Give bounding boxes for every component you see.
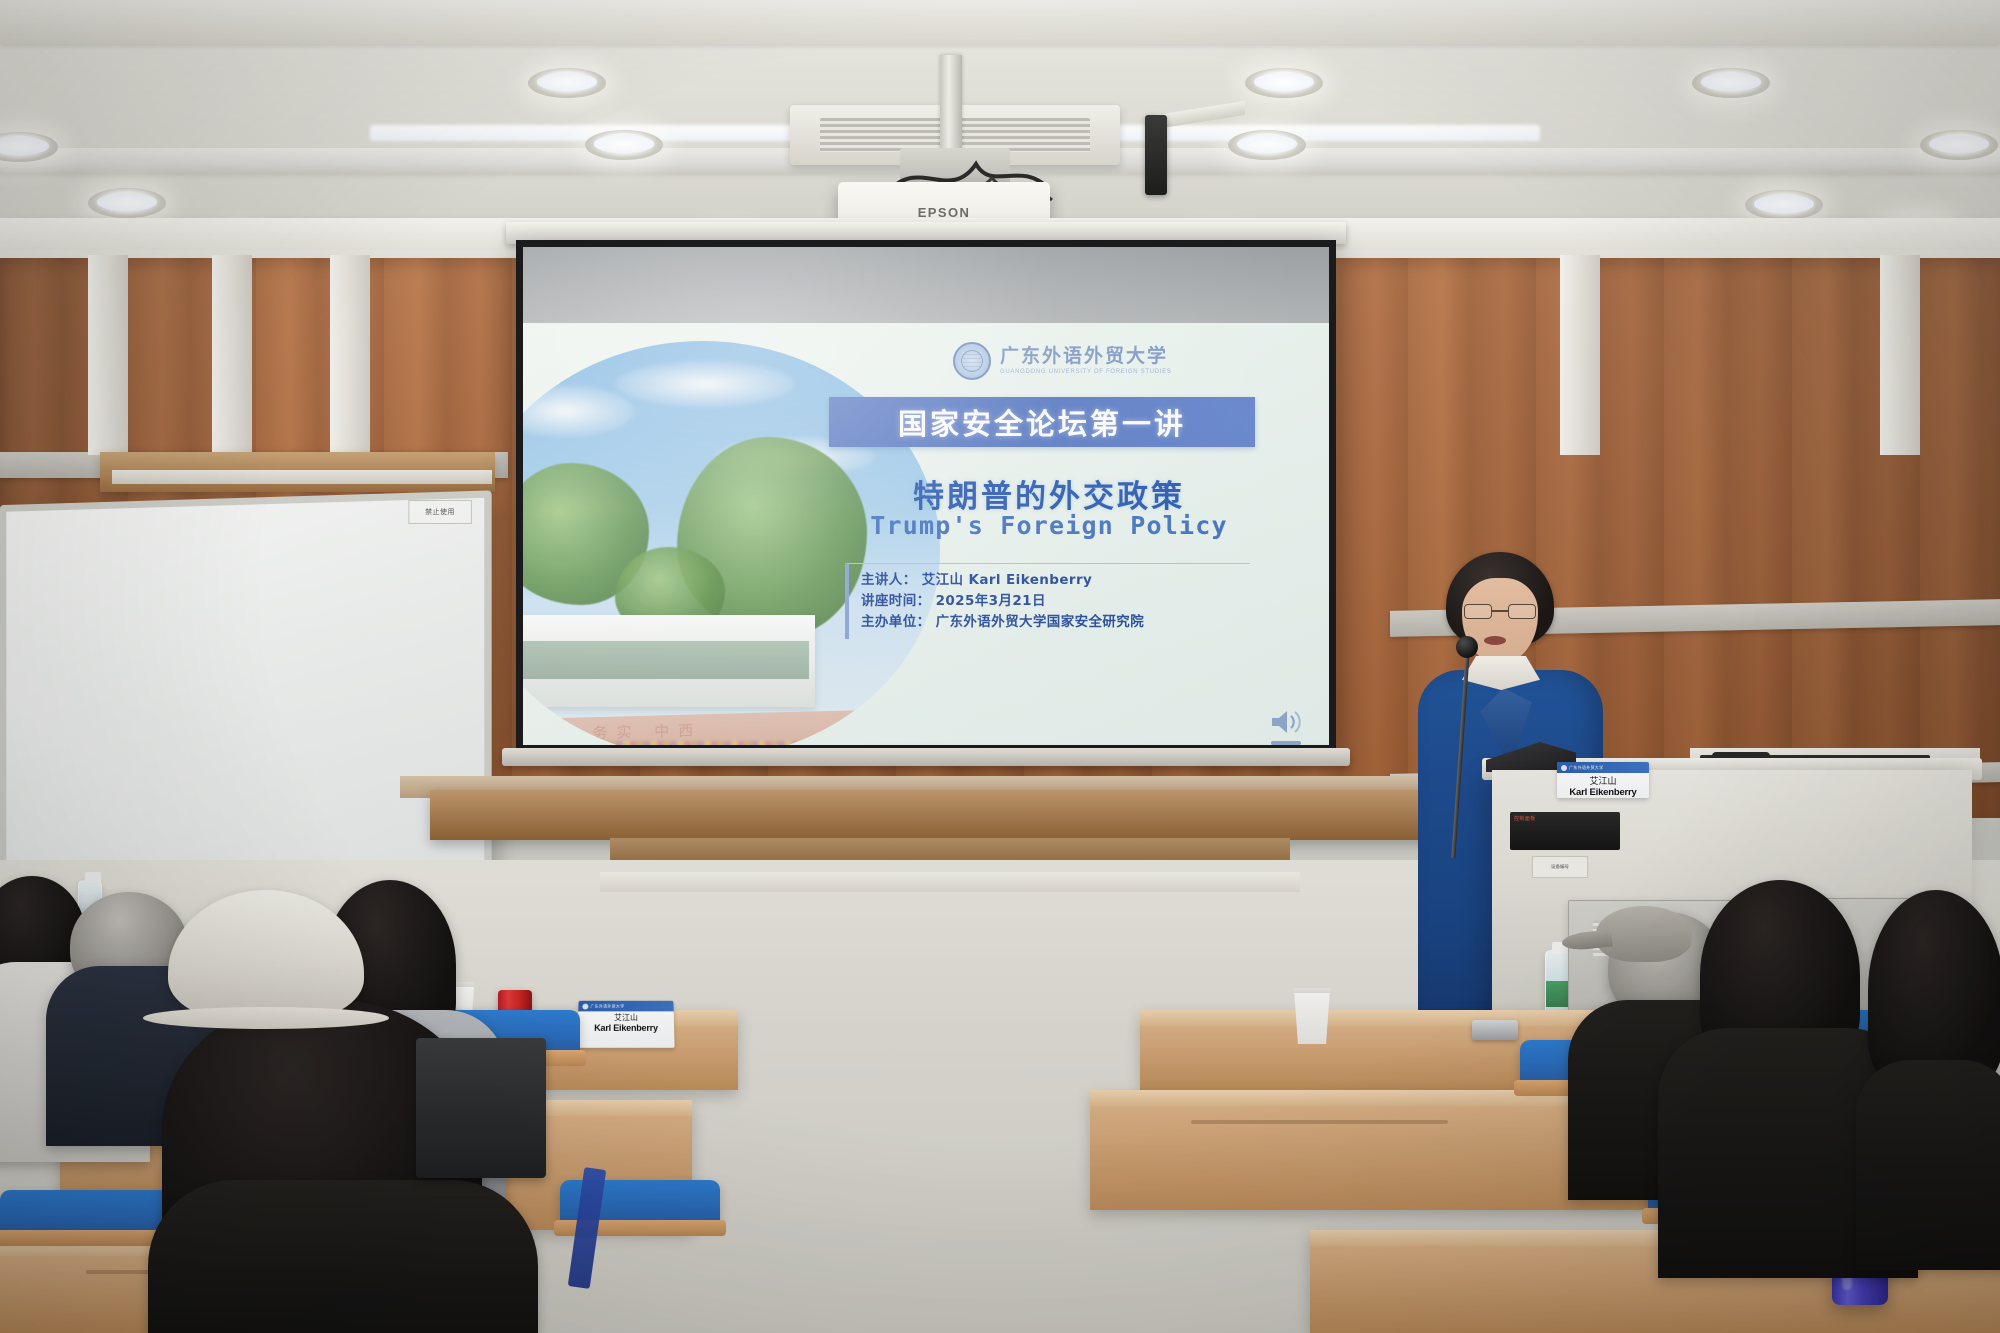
wall-pillar xyxy=(212,255,252,455)
slide-info-date: 讲座时间： 2025年3月21日 xyxy=(861,591,1248,612)
ceiling-speaker xyxy=(1145,115,1167,195)
lens-bridge xyxy=(1492,610,1508,612)
podium-control-panel[interactable]: 控制面板 xyxy=(1510,812,1620,850)
screen-frame: 博学 尚德 务实 中西 广东外语外贸大学 GUANGDONG UNIVERSIT… xyxy=(516,240,1336,752)
nameplate-org: 广东外语外贸大学 xyxy=(1569,765,1603,771)
wall-pillar xyxy=(330,255,370,455)
ceiling-downlight xyxy=(528,68,606,98)
screen-blank-margin xyxy=(523,247,1329,323)
presentation-slide: 博学 尚德 务实 中西 广东外语外贸大学 GUANGDONG UNIVERSIT… xyxy=(523,323,1329,745)
podium-panel-label: 控制面板 xyxy=(1510,812,1620,825)
baseball-cap xyxy=(1596,906,1692,962)
ceiling-downlight xyxy=(1692,68,1770,98)
lecture-hall-photo: EPSON 禁止使用 xyxy=(0,0,2000,1333)
stage-front-panel xyxy=(430,790,1430,840)
screen-bottom-weight-bar xyxy=(502,748,1350,766)
nameplate-desk: 广东外语外贸大学 艾江山 Karl Eikenberry xyxy=(577,1001,674,1048)
nameplate-name-cn: 艾江山 xyxy=(578,1012,674,1023)
audience-body xyxy=(148,1180,538,1333)
desk-top xyxy=(1140,1010,1640,1026)
nameplate-name-en: Karl Eikenberry xyxy=(1557,787,1649,798)
ceiling-downlight xyxy=(88,188,166,218)
screen-surface: 博学 尚德 务实 中西 广东外语外贸大学 GUANGDONG UNIVERSIT… xyxy=(523,247,1329,745)
microphone-icon xyxy=(1456,636,1478,658)
nameplate-name-en: Karl Eikenberry xyxy=(578,1023,674,1033)
university-logo: 广东外语外贸大学 GUANGDONG UNIVERSITY OF FOREIGN… xyxy=(953,339,1203,383)
slide-banner: 国家安全论坛第一讲 xyxy=(829,397,1255,447)
cloud xyxy=(615,361,795,407)
wall-pillar xyxy=(1880,255,1920,455)
nameplate-header: 广东外语外贸大学 xyxy=(578,1001,673,1012)
slide-info-block: 主讲人： 艾江山 Karl Eikenberry 讲座时间： 2025年3月21… xyxy=(845,563,1250,639)
presenter-mouth xyxy=(1484,636,1506,645)
bottle-cap xyxy=(85,872,101,883)
desk-slot xyxy=(1191,1120,1449,1124)
nameplate-logo-icon xyxy=(1561,765,1567,771)
wall-pillar xyxy=(88,255,128,455)
slide-progress-bar xyxy=(1271,741,1301,745)
ceiling-downlight xyxy=(1920,130,1998,160)
whiteboard-warning-sign: 禁止使用 xyxy=(408,500,472,524)
campus-building xyxy=(523,615,815,707)
nameplate-logo-icon xyxy=(582,1003,588,1009)
nameplate-header: 广东外语外贸大学 xyxy=(1557,762,1649,773)
ceiling-beam xyxy=(0,0,2000,44)
audience-body xyxy=(1856,1060,2000,1270)
speaker-icon xyxy=(1269,707,1303,737)
nameplate-podium: 广东外语外贸大学 艾江山 Karl Eikenberry xyxy=(1557,762,1649,798)
projection-screen: 博学 尚德 务实 中西 广东外语外贸大学 GUANGDONG UNIVERSIT… xyxy=(516,240,1336,785)
ceiling-downlight xyxy=(1745,190,1823,220)
floor-step xyxy=(600,872,1300,892)
wall-pillar xyxy=(1560,255,1600,455)
slide-info-speaker: 主讲人： 艾江山 Karl Eikenberry xyxy=(861,570,1248,591)
projector-mount-pole xyxy=(940,55,962,155)
university-seal-icon xyxy=(953,342,991,380)
slide-banner-text: 国家安全论坛第一讲 xyxy=(898,401,1186,443)
smartphone xyxy=(1472,1020,1518,1040)
wall-cabinet-top xyxy=(112,470,492,484)
slide-title-en: Trump's Foreign Policy xyxy=(839,511,1259,540)
flower-bed xyxy=(523,741,891,745)
university-name-cn: 广东外语外贸大学 xyxy=(1000,347,1172,367)
ceiling-downlight xyxy=(1245,68,1323,98)
desk xyxy=(1090,1090,1650,1210)
laptop[interactable] xyxy=(416,1038,546,1178)
university-name-en: GUANGDONG UNIVERSITY OF FOREIGN STUDIES xyxy=(1000,369,1172,375)
cloud xyxy=(523,385,635,437)
ceiling-downlight xyxy=(1228,130,1306,160)
slide-info-host: 主办单位： 广东外语外贸大学国家安全研究院 xyxy=(861,612,1248,633)
slide-title-cn: 特朗普的外交政策 xyxy=(839,471,1259,516)
ceiling-downlight xyxy=(585,130,663,160)
eyeglasses-icon xyxy=(1464,604,1536,619)
lens-left xyxy=(1464,604,1492,619)
lens-right xyxy=(1508,604,1536,619)
nameplate-org: 广东外语外贸大学 xyxy=(590,1003,624,1009)
nameplate-name-cn: 艾江山 xyxy=(1557,774,1649,787)
campus-entrance-wall: 博学 尚德 务实 中西 xyxy=(523,709,891,745)
podium-asset-sticker: 设备编号 xyxy=(1532,856,1588,878)
